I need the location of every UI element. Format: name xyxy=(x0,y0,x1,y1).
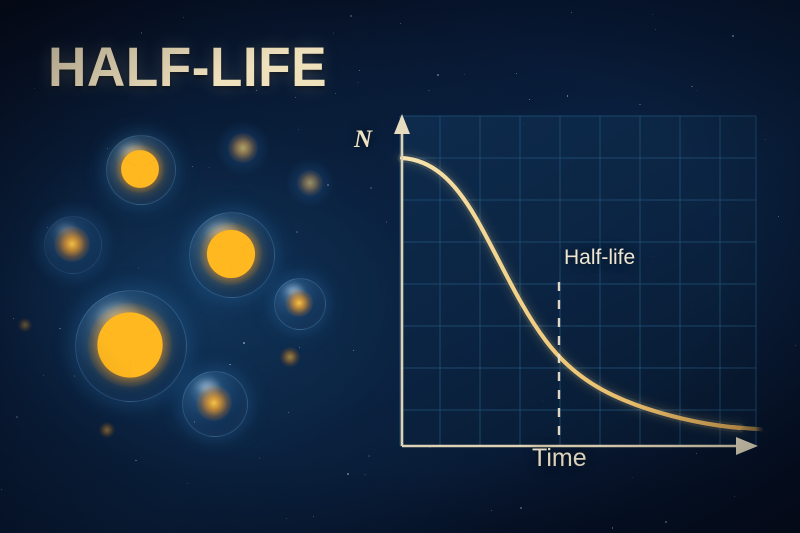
x-axis-label: Time xyxy=(336,444,786,473)
radiation-trefoil-icon xyxy=(203,226,259,282)
decay-curve-tail xyxy=(732,427,764,430)
spark-mid xyxy=(297,170,323,196)
decay-chart: N Half-life Time xyxy=(336,96,786,496)
half-life-annotation-label: Half-life xyxy=(564,246,635,270)
radiation-trefoil-icon xyxy=(118,147,162,191)
infographic-canvas: HALF-LIFE xyxy=(0,0,800,533)
radiation-trefoil-icon xyxy=(92,307,168,383)
spark-top-halo xyxy=(216,121,270,175)
orb-lower-center xyxy=(182,371,248,437)
y-axis-label: N xyxy=(354,126,372,154)
orb-upper-left xyxy=(44,216,102,274)
orb-mid-right xyxy=(274,278,326,330)
chart-panel xyxy=(400,116,756,446)
decay-chart-svg xyxy=(336,96,786,496)
spark-far-left xyxy=(18,318,32,332)
spark-mid-halo xyxy=(286,159,334,207)
spark-bottom xyxy=(99,422,115,438)
spark-low xyxy=(280,347,300,367)
spark-top xyxy=(228,133,258,163)
page-title: HALF-LIFE xyxy=(48,34,327,99)
